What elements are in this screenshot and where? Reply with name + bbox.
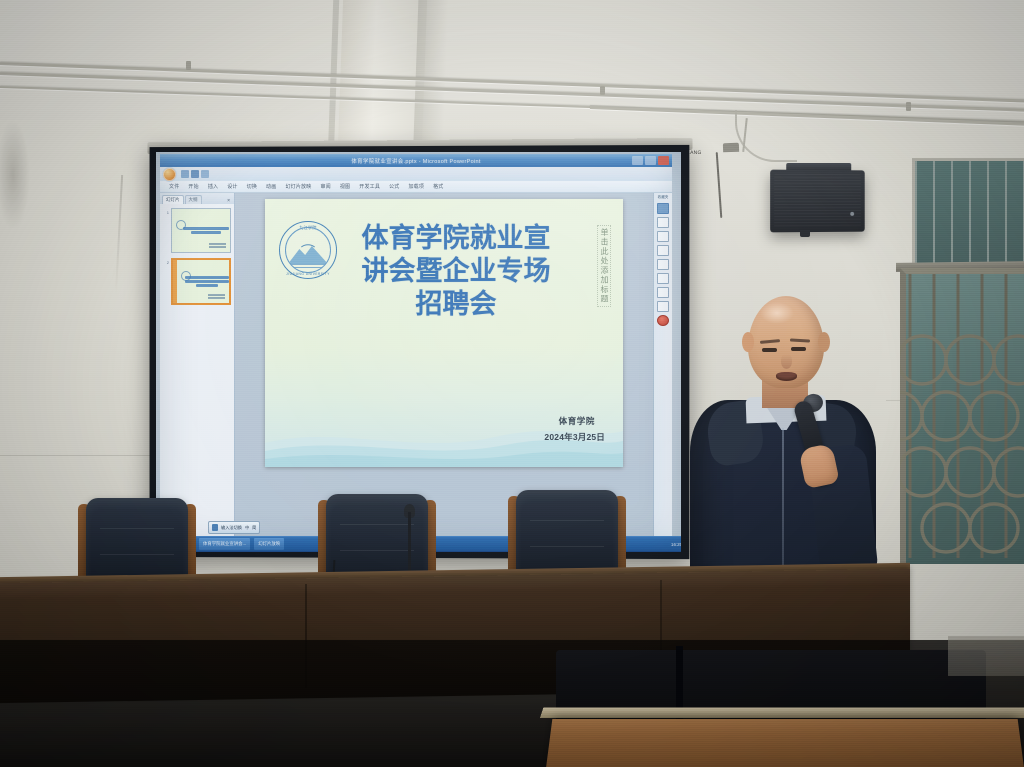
thumbnail-footer xyxy=(209,242,226,248)
redo-icon[interactable] xyxy=(201,170,209,178)
editor-body: 幻灯片 大纲 × 1 xyxy=(160,193,672,536)
speaker-grill xyxy=(774,174,861,229)
menu-item[interactable]: 审阅 xyxy=(320,183,330,190)
screen-mount xyxy=(723,143,739,153)
slide-title-line: 讲会暨企业专场 xyxy=(347,256,565,289)
frame-icon[interactable] xyxy=(657,287,669,298)
mouth xyxy=(776,372,797,381)
thumbnail-slide-1[interactable]: 1 xyxy=(163,208,231,253)
chair-back xyxy=(516,490,618,576)
undo-icon[interactable] xyxy=(191,170,199,178)
speaker-led-icon xyxy=(850,212,854,216)
menu-item[interactable]: 加载项 xyxy=(408,183,424,190)
list-icon[interactable] xyxy=(657,273,669,284)
menu-item[interactable]: 文件 xyxy=(169,183,179,190)
floor-patch xyxy=(948,636,1024,676)
seal-mountain-icon xyxy=(286,242,330,264)
foreground-table-edge xyxy=(540,707,1024,718)
nose xyxy=(781,354,792,369)
tool-rail-caption: 收藏夹 xyxy=(658,196,669,200)
minimize-button[interactable] xyxy=(632,156,643,165)
wall-speaker xyxy=(770,170,865,233)
grid-icon[interactable] xyxy=(657,259,669,270)
speaker-bracket xyxy=(800,230,810,237)
thumbnail-number: 2 xyxy=(163,258,169,305)
thumbnail-list[interactable]: 1 2 xyxy=(160,204,234,536)
slide-canvas-area[interactable]: 九江学院 xyxy=(235,193,653,536)
menu-item[interactable]: 动画 xyxy=(266,183,276,190)
taskbar-button[interactable]: 体育学院就业宣讲会... xyxy=(199,538,250,550)
ime-icon[interactable] xyxy=(212,524,218,531)
foreground-wooden-table xyxy=(546,719,1024,767)
menu-item[interactable]: 切换 xyxy=(247,183,257,190)
chart-icon[interactable] xyxy=(657,245,669,256)
eye-right xyxy=(791,347,806,351)
pipe-clip xyxy=(600,86,605,95)
slide-department: 体育学院 xyxy=(559,415,595,427)
upper-wall xyxy=(0,0,1024,120)
favorites-tool-rail[interactable]: 收藏夹 xyxy=(653,193,672,536)
ime-extra-label[interactable]: 简 xyxy=(252,525,256,531)
system-tray[interactable]: 16:25 xyxy=(671,542,681,547)
university-seal-logo: 九江学院 xyxy=(279,221,335,277)
window-controls[interactable] xyxy=(632,156,669,165)
menu-item[interactable]: 格式 xyxy=(433,183,443,190)
slide-date: 2024年3月25日 xyxy=(544,431,605,443)
clock: 16:25 xyxy=(671,542,681,547)
seal-inner-ring xyxy=(285,227,331,273)
menu-item[interactable]: 幻灯片放映 xyxy=(285,183,311,190)
slide-title-placeholder[interactable]: 单击此处添加标题 xyxy=(597,225,611,307)
clock-icon[interactable] xyxy=(657,301,669,312)
tab-outline[interactable]: 大纲 xyxy=(185,195,202,204)
microphone-stem xyxy=(408,512,411,578)
menu-item[interactable]: 开发工具 xyxy=(359,183,380,190)
wall-smudge xyxy=(0,120,30,230)
ear-right xyxy=(818,332,830,352)
thumbnail-card[interactable] xyxy=(171,258,231,305)
maximize-button[interactable] xyxy=(645,156,656,165)
tab-slides[interactable]: 幻灯片 xyxy=(162,195,184,204)
window-title: 体育学院就业宣讲会.pptx - Microsoft PowerPoint xyxy=(351,157,480,165)
menu-bar[interactable]: 文件 开始 插入 设计 切换 动画 幻灯片放映 审阅 视图 开发工具 公式 加载… xyxy=(160,181,672,193)
office-orb-icon[interactable] xyxy=(162,167,177,182)
save-icon[interactable] xyxy=(181,170,189,178)
ime-language-bar[interactable]: 输入法切换 中 简 xyxy=(208,521,260,534)
lecture-hall-photo: TWINSLANG 体育学院就业宣讲会.pptx - Microsoft Pow… xyxy=(0,0,1024,767)
office-toolbar[interactable] xyxy=(160,167,672,181)
thumbnail-footer xyxy=(208,293,225,299)
ime-mode-label[interactable]: 中 xyxy=(245,525,249,531)
layout-icon[interactable] xyxy=(657,217,669,228)
thumbnail-number: 1 xyxy=(163,208,169,253)
slide-title-line: 体育学院就业宣 xyxy=(347,223,565,256)
menu-item[interactable]: 设计 xyxy=(227,183,237,190)
taskbar-button[interactable]: 幻灯片放映 xyxy=(254,538,284,550)
ime-input-label[interactable]: 输入法切换 xyxy=(221,525,242,531)
powerpoint-window[interactable]: 体育学院就业宣讲会.pptx - Microsoft PowerPoint xyxy=(160,154,672,546)
slide-title[interactable]: 体育学院就业宣 讲会暨企业专场 招聘会 xyxy=(347,223,565,322)
head-highlight xyxy=(760,302,794,324)
security-grate xyxy=(900,274,1024,558)
close-button[interactable] xyxy=(658,156,669,165)
ear-left xyxy=(742,332,754,352)
window-titlebar: 体育学院就业宣讲会.pptx - Microsoft PowerPoint xyxy=(160,154,672,167)
current-slide[interactable]: 九江学院 xyxy=(265,199,623,467)
thumbnail-selection-bar xyxy=(173,260,177,303)
menu-item[interactable]: 开始 xyxy=(188,183,198,190)
user-icon[interactable] xyxy=(657,203,669,214)
eye-left xyxy=(762,348,777,352)
menu-item[interactable]: 插入 xyxy=(208,183,218,190)
chair-back xyxy=(86,498,188,584)
seal-outer-ring: 九江学院 xyxy=(279,221,337,279)
seal-english-text: JIUJIANG UNIVERSITY xyxy=(280,272,336,276)
wall-panel-line xyxy=(0,455,150,456)
thumbnail-tabs[interactable]: 幻灯片 大纲 × xyxy=(160,193,234,204)
pipe-clip xyxy=(906,102,911,111)
thumbnail-card[interactable] xyxy=(171,208,231,253)
table-icon[interactable] xyxy=(657,231,669,242)
slide-thumbnail-pane[interactable]: 幻灯片 大纲 × 1 xyxy=(160,193,235,536)
menu-item[interactable]: 公式 xyxy=(389,183,399,190)
seal-water-lines xyxy=(290,262,326,269)
menu-item[interactable]: 视图 xyxy=(340,183,350,190)
slide-title-line: 招聘会 xyxy=(347,289,565,322)
record-icon[interactable] xyxy=(657,315,669,326)
thumbnail-slide-2[interactable]: 2 xyxy=(163,258,231,305)
quick-access-toolbar[interactable] xyxy=(181,170,209,178)
pipe-clip xyxy=(186,61,191,70)
